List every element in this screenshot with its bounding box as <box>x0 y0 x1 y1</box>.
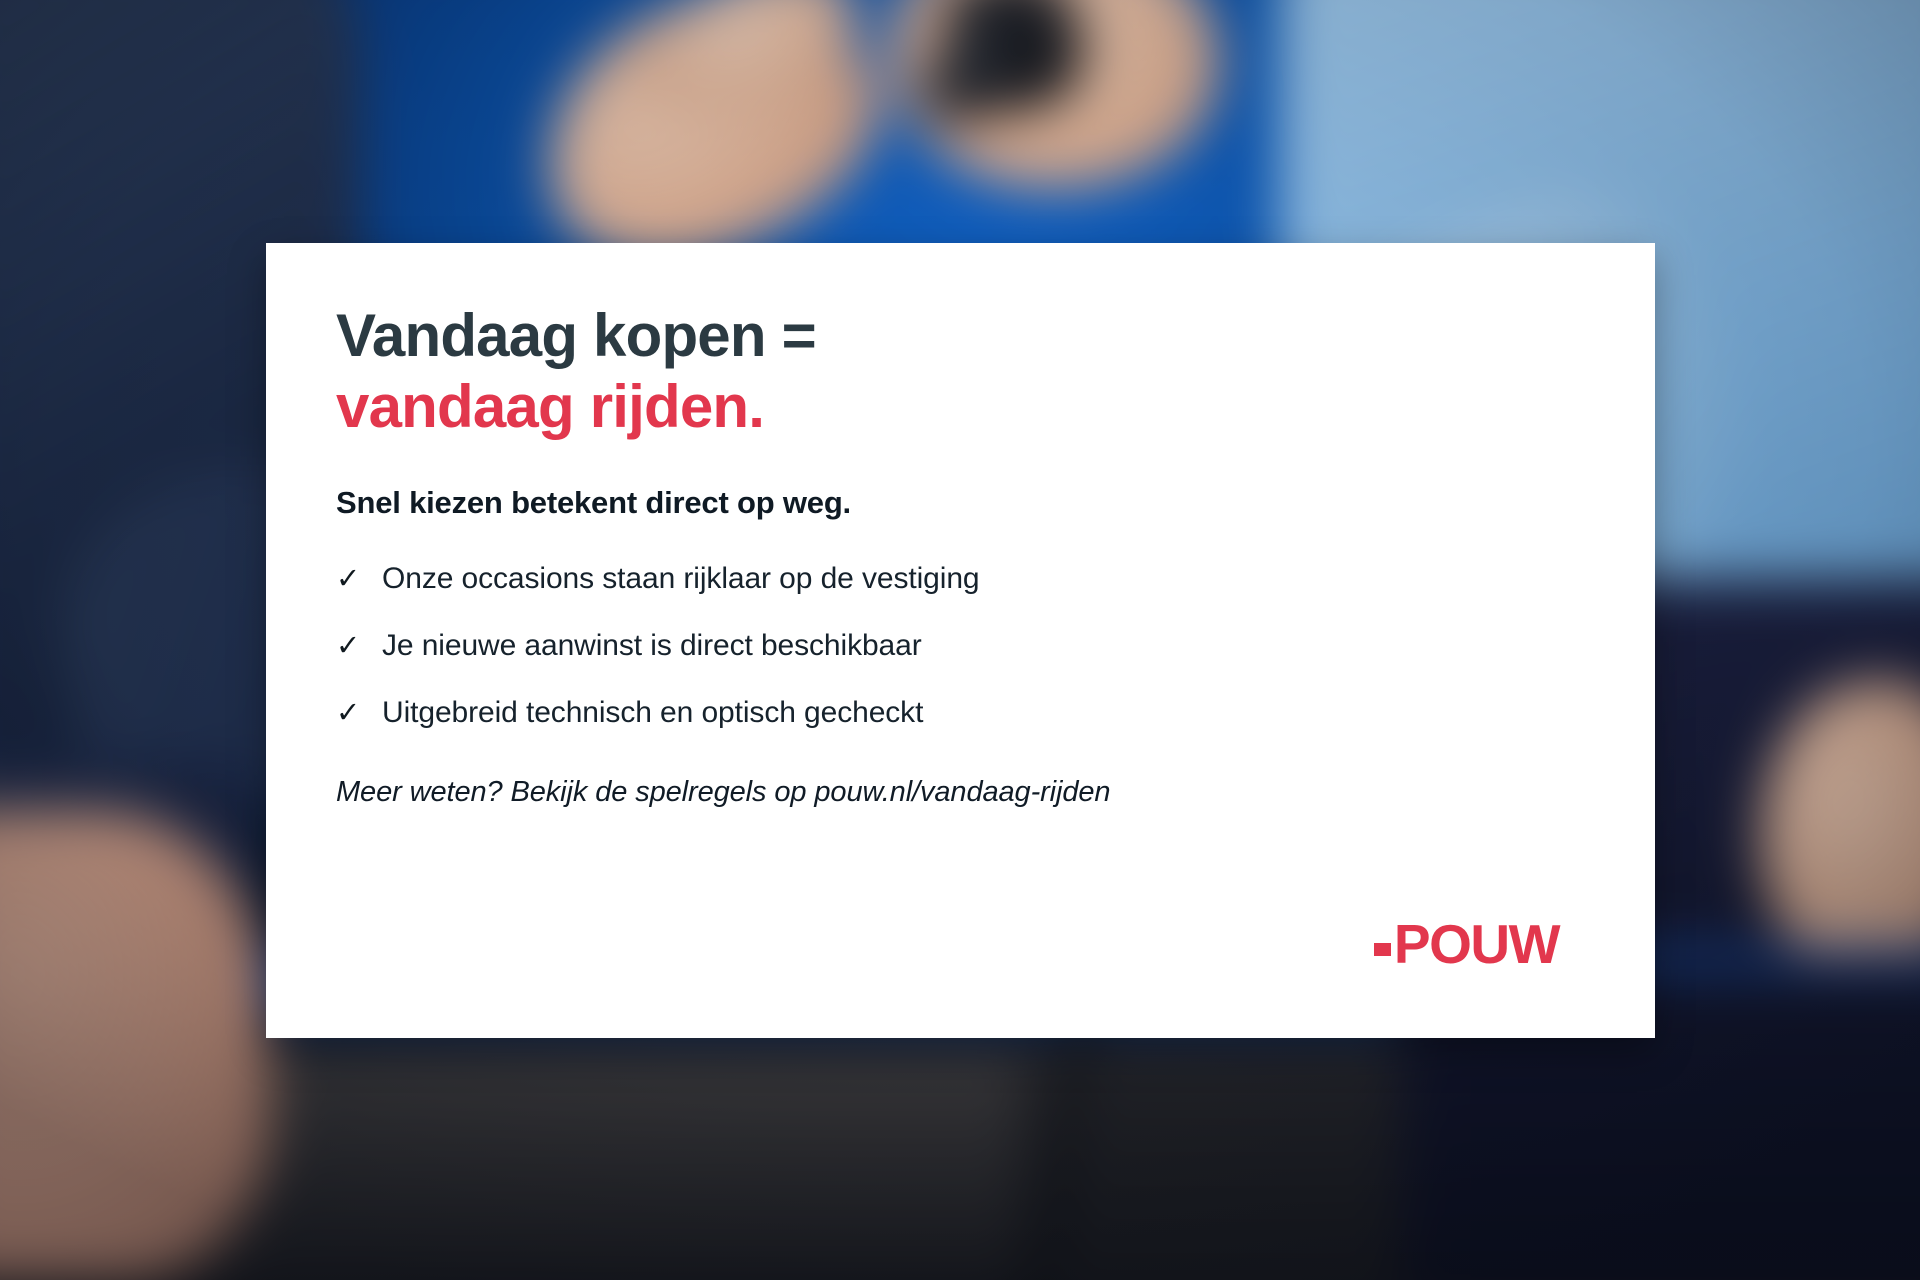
benefits-list: ✓ Onze occasions staan rijklaar op de ve… <box>336 561 1607 730</box>
benefit-label: Uitgebreid technisch en optisch gecheckt <box>382 696 923 730</box>
promo-card: Vandaag kopen = vandaag rijden. Snel kie… <box>266 243 1655 1038</box>
promo-card-content: Vandaag kopen = vandaag rijden. Snel kie… <box>336 301 1607 1004</box>
list-item: ✓ Uitgebreid technisch en optisch gechec… <box>336 695 1607 730</box>
footnote-text: Meer weten? Bekijk de spelregels op pouw… <box>336 776 1607 809</box>
dash-icon <box>1374 943 1391 956</box>
list-item: ✓ Je nieuwe aanwinst is direct beschikba… <box>336 628 1607 663</box>
check-icon: ✓ <box>336 695 382 729</box>
headline-line-1: Vandaag kopen = <box>336 301 1607 372</box>
subheading: Snel kiezen betekent direct op weg. <box>336 485 1607 521</box>
benefit-label: Onze occasions staan rijklaar op de vest… <box>382 562 980 596</box>
logo-wordmark: POUW <box>1394 917 1559 972</box>
benefit-label: Je nieuwe aanwinst is direct beschikbaar <box>382 629 922 663</box>
list-item: ✓ Onze occasions staan rijklaar op de ve… <box>336 561 1607 596</box>
pouw-logo: POUW <box>1374 917 1559 972</box>
check-icon: ✓ <box>336 561 382 595</box>
page-title: Vandaag kopen = vandaag rijden. <box>336 301 1607 443</box>
headline-line-2: vandaag rijden. <box>336 372 1607 443</box>
poster-canvas: Vandaag kopen = vandaag rijden. Snel kie… <box>0 0 1920 1280</box>
check-icon: ✓ <box>336 628 382 662</box>
